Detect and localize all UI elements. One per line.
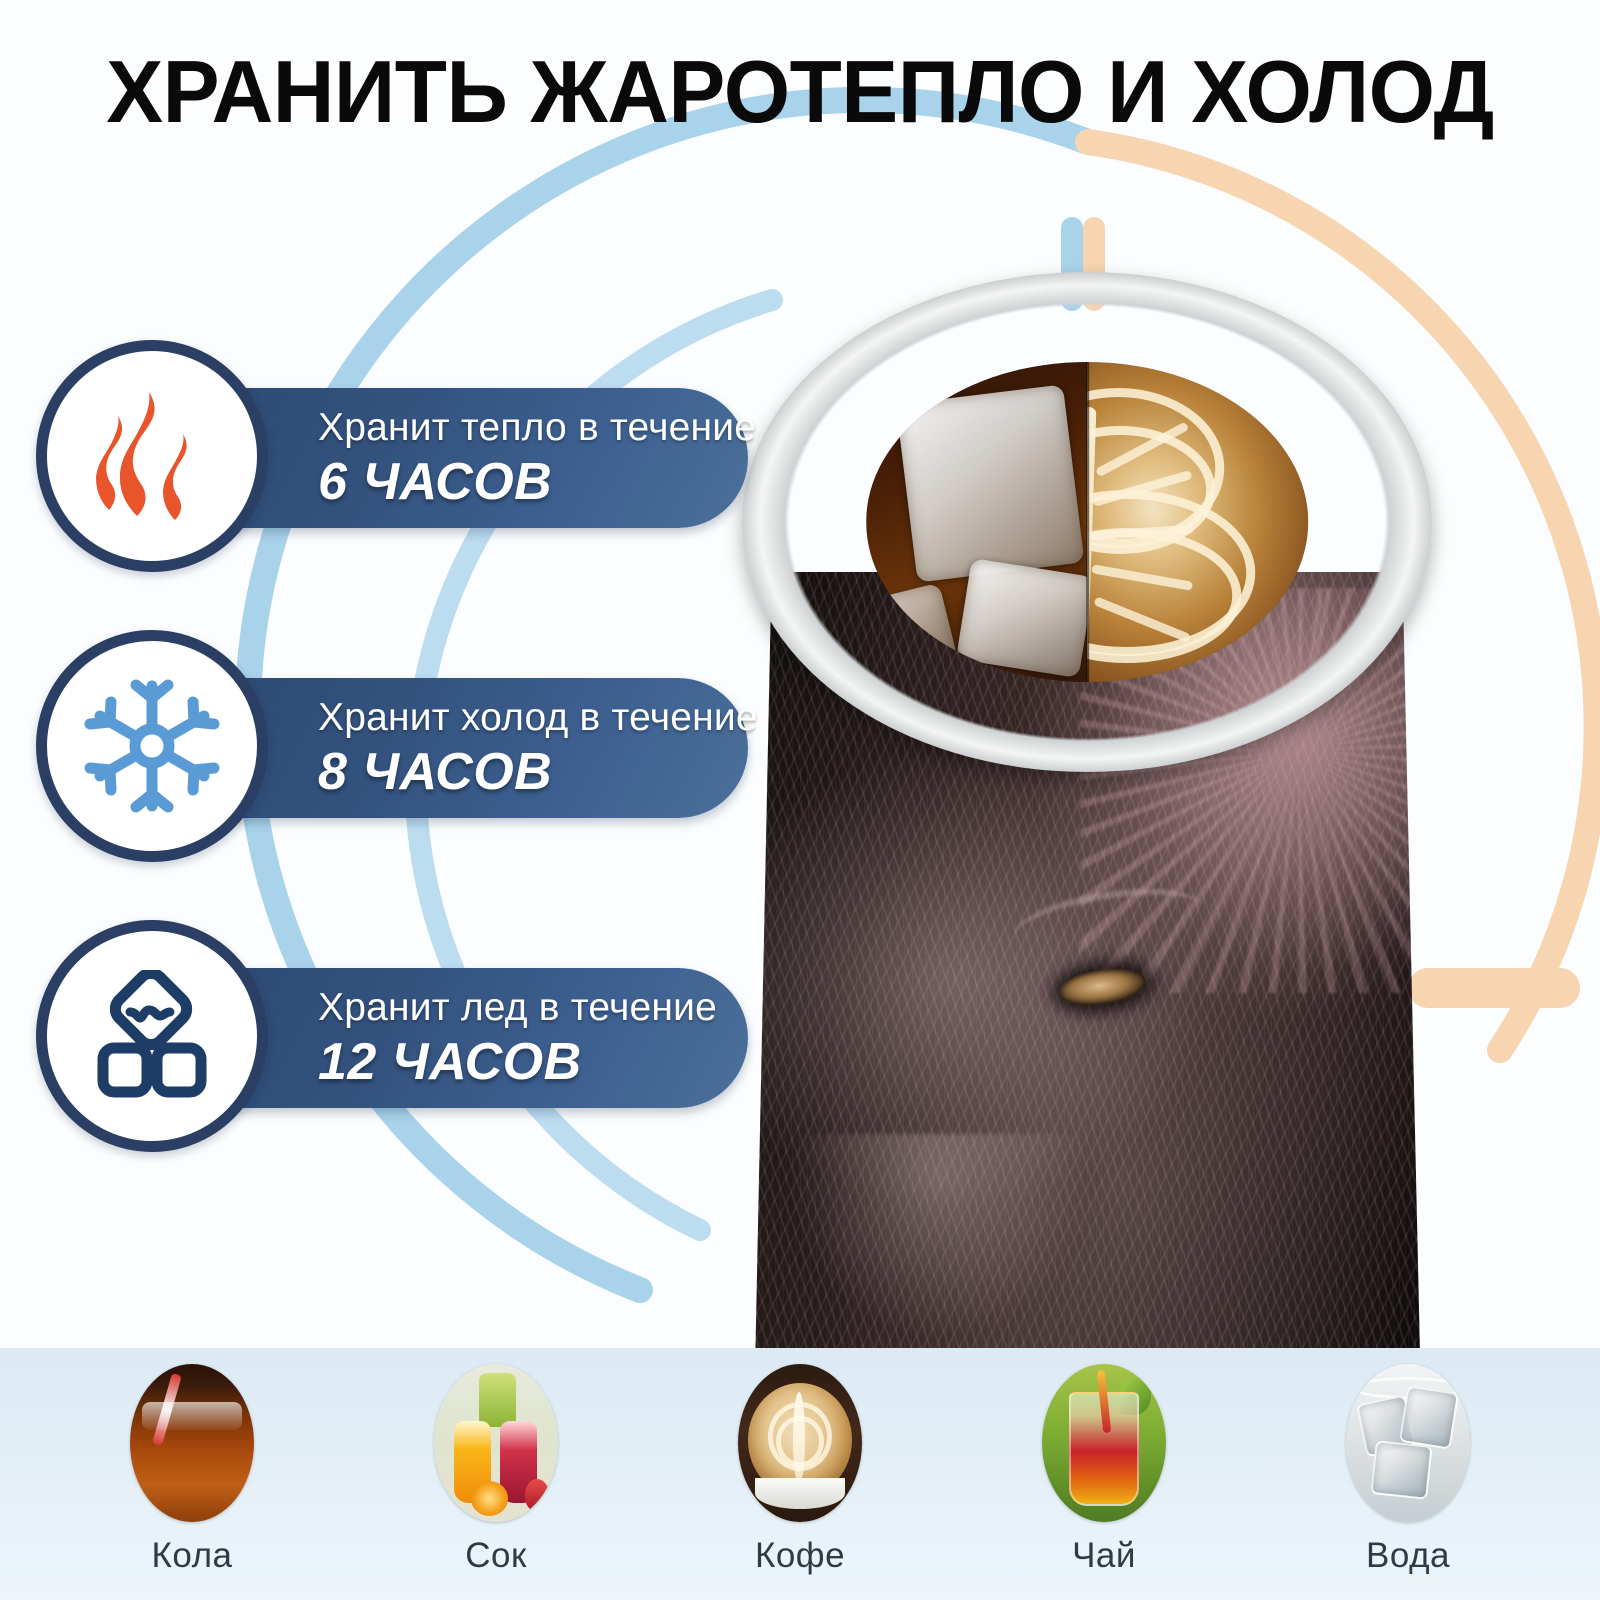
ice-cubes-icon (86, 970, 218, 1102)
product-image (742, 272, 1432, 1352)
feature-row-heat[interactable]: Хранит тепло в течение 6 ЧАСОВ (36, 340, 766, 580)
snowflake-icon (82, 676, 222, 816)
drink-label: Сок (465, 1536, 527, 1576)
cola-glass-icon (130, 1364, 254, 1522)
lion-muzzle (777, 1134, 1101, 1352)
juice-bottles-icon (434, 1364, 558, 1522)
drink-item-cola[interactable]: Кола (67, 1348, 317, 1576)
ice-cube (956, 558, 1087, 678)
hot-latte-half (1087, 362, 1308, 682)
flame-icon-badge (36, 340, 268, 572)
ice-water-icon (1346, 1364, 1470, 1522)
iced-coffee-half (866, 362, 1087, 682)
flame-icon (87, 386, 217, 526)
compatible-drinks-strip: Кола Сок Кофе (0, 1348, 1600, 1600)
tumbler-rim (742, 272, 1432, 772)
infographic-page: ХРАНИТЬ ЖАРОТЕПЛО И ХОЛОД (0, 0, 1600, 1600)
drink-item-juice[interactable]: Сок (371, 1348, 621, 1576)
drink-label: Вода (1366, 1536, 1450, 1576)
page-title: ХРАНИТЬ ЖАРОТЕПЛО И ХОЛОД (24, 44, 1576, 140)
drink-label: Кола (152, 1536, 233, 1576)
drink-label: Кофе (755, 1536, 845, 1576)
feature-value: 6 ЧАСОВ (318, 453, 748, 511)
feature-row-cold[interactable]: Хранит холод в течение 8 ЧАСОВ (36, 630, 766, 870)
ice-cube (866, 583, 959, 682)
feature-list: Хранит тепло в течение 6 ЧАСОВ (36, 340, 766, 1160)
drink-label: Чай (1072, 1536, 1136, 1576)
feature-value: 12 ЧАСОВ (318, 1033, 748, 1091)
feature-value: 8 ЧАСОВ (318, 743, 748, 801)
ice-cube (896, 384, 1084, 582)
drink-item-water[interactable]: Вода (1283, 1348, 1533, 1576)
latte-cup-icon (738, 1364, 862, 1522)
split-divider (1086, 362, 1089, 682)
feature-title: Хранит тепло в течение (318, 405, 748, 451)
feature-row-ice[interactable]: Хранит лед в течение 12 ЧАСОВ (36, 920, 766, 1160)
snowflake-icon-badge (36, 630, 268, 862)
feature-title: Хранит холод в течение (318, 695, 748, 741)
ice-cubes-icon-badge (36, 920, 268, 1152)
feature-title: Хранит лед в течение (318, 985, 748, 1031)
drink-item-tea[interactable]: Чай (979, 1348, 1229, 1576)
tea-glass-icon (1042, 1364, 1166, 1522)
tumbler-opening (866, 362, 1308, 682)
drink-item-coffee[interactable]: Кофе (675, 1348, 925, 1576)
